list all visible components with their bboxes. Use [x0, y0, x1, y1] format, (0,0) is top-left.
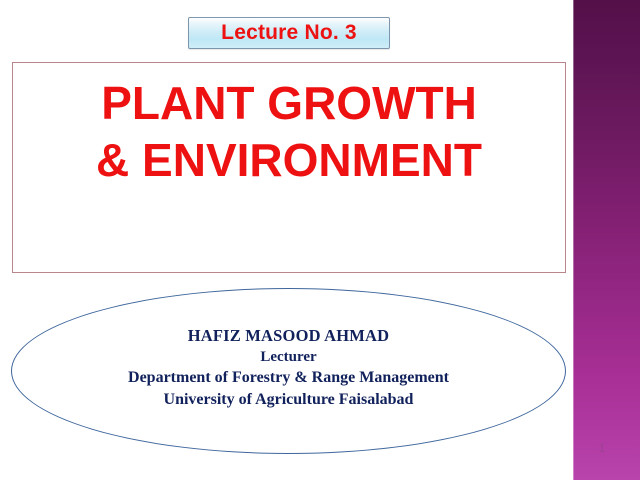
- presenter-department: Department of Forestry & Range Managemen…: [11, 367, 566, 389]
- lecture-number-label: Lecture No. 3: [221, 21, 357, 45]
- purple-gradient-band: [573, 0, 640, 480]
- presenter-details: HAFIZ MASOOD AHMAD Lecturer Department o…: [11, 325, 566, 411]
- lecture-number-banner: Lecture No. 3: [188, 17, 390, 49]
- presenter-role: Lecturer: [11, 347, 566, 367]
- slide-title: PLANT GROWTH & ENVIRONMENT: [13, 75, 565, 189]
- presenter-name: HAFIZ MASOOD AHMAD: [11, 325, 566, 347]
- page-number: 1: [589, 441, 615, 455]
- band-highlight-edge: [573, 0, 574, 480]
- title-box: PLANT GROWTH & ENVIRONMENT: [12, 62, 566, 273]
- presenter-university: University of Agriculture Faisalabad: [11, 389, 566, 411]
- presentation-slide: 1 Lecture No. 3 PLANT GROWTH & ENVIRONME…: [0, 0, 640, 480]
